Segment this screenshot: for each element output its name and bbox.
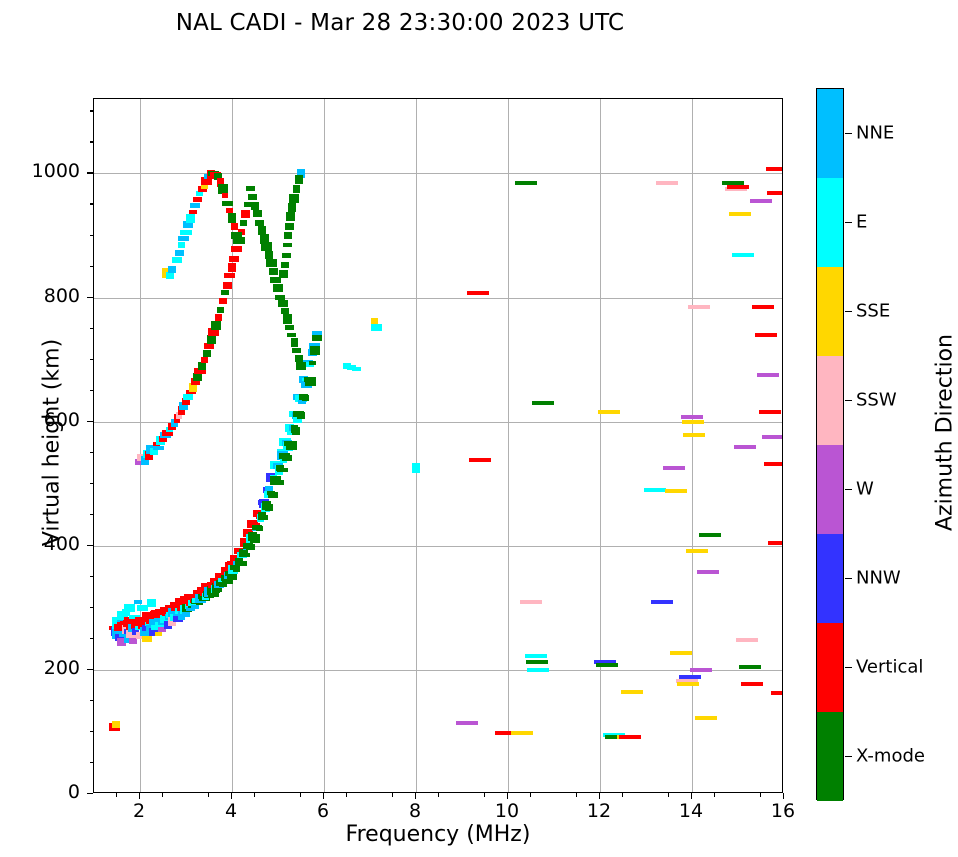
y-tick-label: 0 [0,781,80,803]
data-point [757,373,779,377]
x-tick-minor [668,793,669,797]
data-point [511,731,533,735]
data-point [279,270,288,278]
data-point [228,263,236,272]
gridline-vertical [324,99,325,792]
data-point [755,333,777,337]
data-point [352,367,361,371]
plot-area [93,98,783,793]
colorbar-segment-nne [817,89,843,178]
data-point [699,533,721,537]
data-point [739,665,761,669]
data-point [289,194,299,203]
gridline-vertical [600,99,601,792]
data-point [285,325,294,329]
data-point [240,220,247,226]
data-point [621,690,643,694]
x-tick-minor [530,793,531,797]
colorbar-tick [845,578,852,579]
y-tick-minor [90,514,94,515]
colorbar-label-e: E [856,211,867,232]
data-point [291,338,298,347]
data-point [526,660,548,664]
data-point [246,186,256,191]
y-tick [87,669,93,670]
data-point [312,335,322,340]
x-tick-label: 6 [293,800,353,822]
data-point [302,395,309,401]
x-tick-minor [254,793,255,797]
data-point [183,394,193,399]
data-point [734,445,756,449]
y-tick-minor [90,731,94,732]
data-point [736,638,758,642]
data-point [752,305,774,309]
data-point [268,492,278,498]
data-point [295,175,303,184]
data-point [679,675,701,679]
data-point [147,599,157,607]
data-point [266,259,277,267]
y-axis-title: Virtual height (km) [40,233,65,653]
colorbar-segment-w [817,445,843,534]
x-tick-minor [116,793,117,797]
x-tick-minor [208,793,209,797]
data-point [467,291,489,295]
data-point [246,544,255,550]
x-tick-label: 4 [201,800,261,822]
x-tick [231,793,232,799]
data-point [233,566,240,572]
data-point [248,194,257,199]
x-tick-minor [484,793,485,797]
data-point [771,691,783,695]
y-tick-minor [90,576,94,577]
data-point [282,253,291,258]
data-point [287,333,296,337]
data-point [296,362,306,370]
data-point [663,466,685,470]
y-tick-minor [90,110,94,111]
x-tick [599,793,600,799]
gridline-horizontal [94,298,782,299]
data-point [231,232,241,238]
data-point [166,272,174,279]
x-tick-minor [346,793,347,797]
data-point [207,335,216,344]
data-point [211,321,220,331]
gridline-horizontal [94,670,782,671]
data-point [189,210,196,214]
y-tick-minor [90,762,94,763]
data-point [251,202,258,210]
data-point [288,203,296,212]
data-point [178,242,186,248]
data-point [670,651,692,655]
gridline-vertical [508,99,509,792]
data-point [292,348,302,352]
data-point [656,181,678,185]
data-point [729,212,751,216]
colorbar-segment-vertical [817,623,843,712]
colorbar-segment-e [817,178,843,267]
data-point [284,232,293,240]
colorbar-segment-x-mode [817,712,843,801]
data-point [305,377,316,386]
y-tick [87,793,93,794]
data-point [228,213,235,223]
data-point [281,262,289,268]
x-tick-minor [162,793,163,797]
y-tick-minor [90,638,94,639]
data-point [186,214,195,223]
colorbar-label-sse: SSE [856,300,890,321]
data-point [688,305,710,309]
x-tick-label: 12 [569,800,629,822]
colorbar-tick [845,489,852,490]
data-point [286,212,295,221]
data-point [224,273,235,278]
y-tick-minor [90,328,94,329]
y-tick-minor [90,452,94,453]
data-point [236,561,247,566]
y-tick-minor [90,359,94,360]
data-point [217,307,224,313]
data-point [619,735,641,739]
colorbar-segment-nnw [817,534,843,623]
page-title: NAL CADI - Mar 28 23:30:00 2023 UTC [0,10,800,36]
data-point [134,600,142,604]
data-point [222,201,233,206]
data-point [762,435,784,439]
data-point [112,721,120,729]
colorbar-tick [845,133,852,134]
data-point [142,636,152,642]
x-tick [507,793,508,799]
data-point [278,300,288,307]
colorbar [816,88,844,800]
data-point [681,415,703,419]
data-point [168,266,176,273]
colorbar-title: Azimuth Direction [933,223,958,643]
y-tick [87,297,93,298]
data-point [198,362,206,370]
x-tick-label: 16 [753,800,813,822]
data-point [272,480,283,485]
data-point [682,420,704,424]
data-point [231,223,238,230]
y-tick-minor [90,483,94,484]
x-tick-label: 8 [385,800,445,822]
colorbar-tick [845,400,852,401]
y-tick [87,545,93,546]
data-point [229,256,239,262]
data-point [275,295,285,300]
x-tick [415,793,416,799]
gridline-horizontal [94,422,782,423]
x-tick [783,793,784,799]
data-point [532,401,554,405]
data-point [309,361,316,365]
x-tick-minor [622,793,623,797]
y-tick-minor [90,390,94,391]
data-point [732,253,754,257]
data-point [598,410,620,414]
data-point [695,716,717,720]
data-point [256,526,263,532]
colorbar-label-nnw: NNW [856,567,901,588]
data-point [750,199,772,203]
data-point [596,663,618,667]
colorbar-tick [845,311,852,312]
data-point [283,243,292,247]
data-point [665,489,687,493]
data-point [412,463,419,472]
x-tick-minor [760,793,761,797]
y-tick-minor [90,607,94,608]
y-tick-minor [90,700,94,701]
x-tick [323,793,324,799]
data-point [766,167,783,171]
data-point [285,223,294,230]
gridline-vertical [692,99,693,792]
data-point [223,282,231,289]
data-point [222,193,229,198]
y-tick-minor [90,203,94,204]
data-point [219,298,227,304]
y-tick-minor [90,235,94,236]
colorbar-label-w: W [856,478,874,499]
data-point [270,277,281,283]
data-point [242,553,250,558]
gridline-horizontal [94,546,782,547]
data-point [292,427,300,434]
data-point [644,488,666,492]
x-tick-label: 14 [661,800,721,822]
data-point [215,314,222,322]
data-point [527,668,549,672]
data-point [767,191,783,195]
colorbar-label-vertical: Vertical [856,656,923,677]
data-point [265,504,273,512]
data-point [768,541,783,545]
data-point [759,410,781,414]
x-tick-label: 10 [477,800,537,822]
data-point [155,632,162,636]
data-point [282,455,293,461]
data-point [261,242,272,252]
data-point [253,210,262,217]
colorbar-tick [845,222,852,223]
x-tick-minor [576,793,577,797]
data-point [297,412,304,419]
data-point [241,210,250,218]
colorbar-label-ssw: SSW [856,389,897,410]
data-point [456,721,478,725]
data-point [677,682,699,686]
x-tick-minor [392,793,393,797]
data-point [764,462,783,466]
colorbar-segment-ssw [817,356,843,445]
y-tick [87,421,93,422]
x-tick [691,793,692,799]
x-tick [139,793,140,799]
x-tick-minor [300,793,301,797]
data-point [231,246,241,252]
data-point [515,181,537,185]
gridline-vertical [140,99,141,792]
x-tick-minor [438,793,439,797]
data-point [310,346,319,356]
data-point [124,604,135,612]
data-point [190,203,200,208]
data-point [265,251,272,259]
colorbar-tick [845,667,852,668]
data-point [178,236,189,241]
data-point [469,458,491,462]
data-point [269,268,278,275]
data-point [221,290,230,296]
x-tick-label: 2 [109,800,169,822]
colorbar-tick [845,756,852,757]
data-point [193,373,203,381]
data-point [525,654,547,658]
y-tick [87,172,93,173]
data-point [180,230,191,235]
x-tick-minor [714,793,715,797]
x-axis-title: Frequency (MHz) [93,822,783,847]
data-point [201,357,208,363]
data-point [686,549,708,553]
ionogram-figure: NAL CADI - Mar 28 23:30:00 2023 UTC 2468… [0,0,958,857]
data-point [371,324,382,331]
data-point [697,570,719,574]
data-point [153,446,164,450]
data-point [250,534,261,543]
data-point [193,197,201,201]
data-point [273,284,284,292]
colorbar-label-x-mode: X-mode [856,745,925,766]
data-point [191,605,199,609]
data-point [727,185,749,189]
gridline-horizontal [94,173,782,174]
y-tick-minor [90,266,94,267]
data-point [741,682,763,686]
colorbar-segment-sse [817,267,843,356]
y-tick-label: 200 [0,657,80,679]
data-point [175,250,184,256]
data-point [172,257,182,263]
gridline-vertical [416,99,417,792]
data-point [203,350,211,356]
data-point [690,668,712,672]
data-point [261,515,268,520]
data-point [520,600,542,604]
data-point [277,468,287,472]
data-point [651,600,673,604]
y-tick-minor [90,141,94,142]
data-point [683,433,705,437]
colorbar-label-nne: NNE [856,122,894,143]
data-point [293,185,300,192]
data-point [286,441,297,450]
data-point [283,314,292,324]
y-tick-label: 1000 [0,160,80,182]
